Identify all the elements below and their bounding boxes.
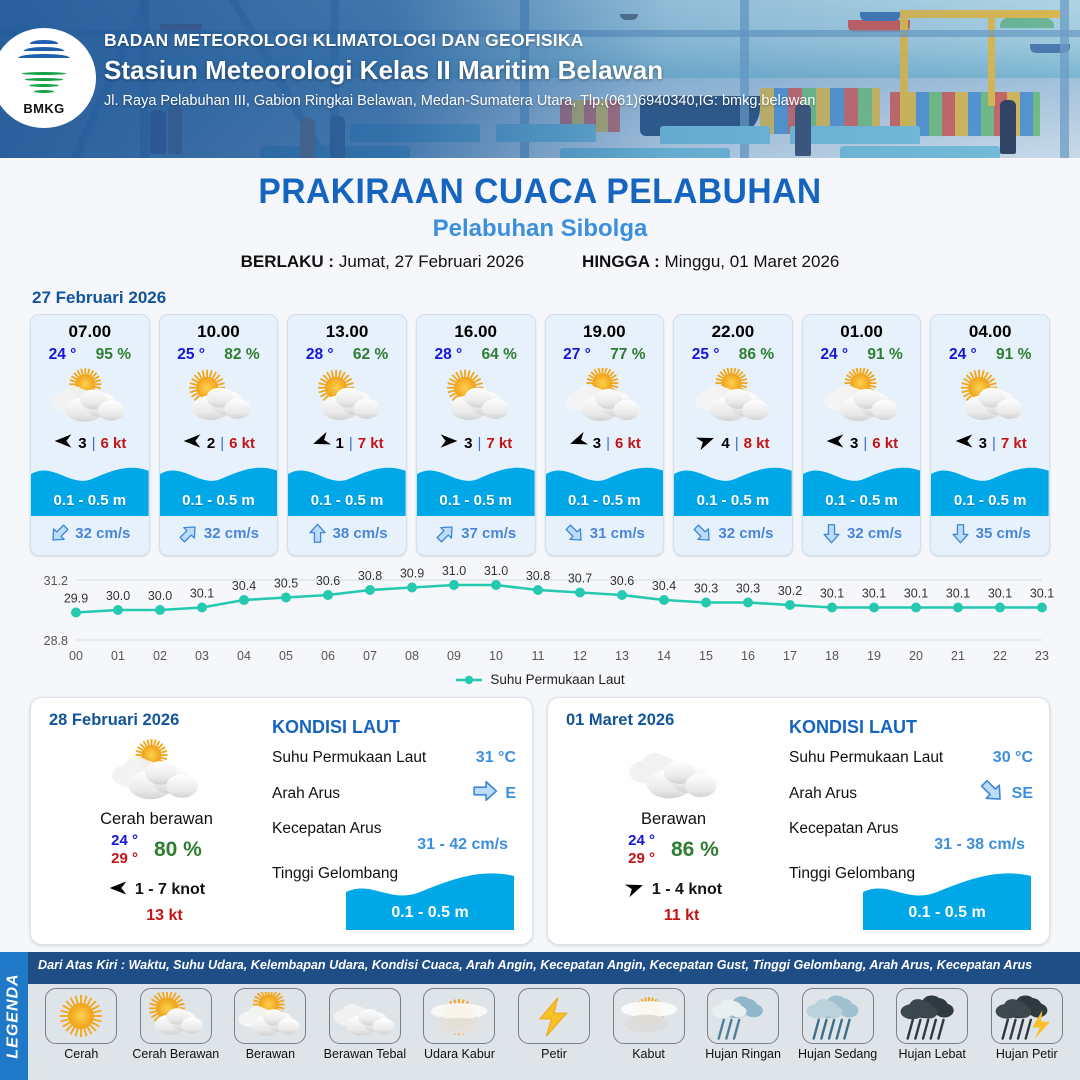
- current-direction-icon: [692, 523, 712, 543]
- sea-row-sst: Suhu Permukaan Laut 30 °C: [789, 749, 1033, 767]
- legend-sun-clouds-icon: [234, 988, 306, 1044]
- svg-text:07: 07: [363, 649, 377, 663]
- current-direction-icon: [564, 523, 584, 543]
- panel-wave-graphic: 0.1 - 0.5 m: [346, 870, 514, 930]
- legend-item: Udara Kabur: [412, 988, 507, 1061]
- page-header: BMKG BADAN METEOROLOGI KLIMATOLOGI DAN G…: [0, 0, 1080, 158]
- panel-temp-max: 29 °: [111, 850, 138, 868]
- current-speed: 35 cm/s: [976, 525, 1031, 542]
- wind-scale: 2: [207, 435, 215, 452]
- legend-item-label: Cerah: [64, 1047, 98, 1061]
- header-text-block: BADAN METEOROLOGI KLIMATOLOGI DAN GEOFIS…: [104, 30, 815, 109]
- wave-height: 0.1 - 0.5 m: [546, 492, 664, 509]
- card-temperature: 24 °: [949, 346, 977, 364]
- wind-gust: 6 kt: [229, 435, 255, 452]
- svg-text:30.7: 30.7: [568, 572, 592, 586]
- agency-name: BADAN METEOROLOGI KLIMATOLOGI DAN GEOFIS…: [104, 30, 815, 51]
- valid-until-value: Minggu, 01 Maret 2026: [665, 252, 840, 271]
- card-wave: 0.1 - 0.5 m: [931, 458, 1049, 516]
- svg-text:13: 13: [615, 649, 629, 663]
- svg-text:11: 11: [532, 649, 545, 663]
- station-name: Stasiun Meteorologi Kelas II Maritim Bel…: [104, 55, 815, 86]
- legend-sun-cloud-icon: [140, 988, 212, 1044]
- current-direction-icon: [178, 523, 198, 543]
- forecast-card[interactable]: 10.00 25 ° 82 % 2 | 6 kt 0.1 - 0.5 m: [159, 314, 279, 556]
- current-speed: 32 cm/s: [718, 525, 773, 542]
- legend-section: LEGENDA Dari Atas Kiri : Waktu, Suhu Uda…: [0, 952, 1080, 1080]
- wind-gust: 7 kt: [1001, 435, 1027, 452]
- card-humidity: 64 %: [482, 346, 517, 364]
- svg-text:17: 17: [783, 649, 797, 663]
- card-current: 32 cm/s: [803, 516, 921, 550]
- card-time: 01.00: [803, 315, 921, 342]
- svg-text:19: 19: [867, 649, 881, 663]
- panel-humidity: 80 %: [154, 838, 202, 862]
- legend-item: Kabut: [601, 988, 696, 1061]
- station-address: Jl. Raya Pelabuhan III, Gabion Ringkai B…: [104, 93, 815, 109]
- card-temp-humidity: 28 ° 62 %: [288, 342, 406, 364]
- panel-temp-range: 24 ° 29 °: [111, 832, 138, 869]
- svg-text:30.4: 30.4: [232, 579, 256, 593]
- current-direction-icon: [435, 523, 455, 543]
- card-time: 07.00: [31, 315, 149, 342]
- card-wind: 3 | 6 kt: [803, 428, 921, 458]
- wave-height: 0.1 - 0.5 m: [803, 492, 921, 509]
- card-humidity: 82 %: [224, 346, 259, 364]
- card-current: 35 cm/s: [931, 516, 1049, 550]
- legend-tab-label: LEGENDA: [5, 973, 23, 1058]
- wind-scale: 1: [336, 435, 344, 452]
- card-humidity: 91 %: [996, 346, 1031, 364]
- card-time: 13.00: [288, 315, 406, 342]
- svg-text:30.0: 30.0: [106, 589, 130, 603]
- svg-text:30.1: 30.1: [904, 587, 928, 601]
- legend-fog-icon: [613, 988, 685, 1044]
- sea-row-label: Suhu Permukaan Laut: [272, 749, 476, 767]
- card-weather-icon: [417, 366, 535, 428]
- panel-wind-range: 1 - 7 knot: [135, 881, 205, 899]
- panel-weather-icon: [49, 734, 264, 806]
- panel-temp-min: 24 °: [628, 832, 655, 850]
- svg-text:15: 15: [699, 649, 713, 663]
- card-humidity: 77 %: [610, 346, 645, 364]
- wind-direction-icon: [954, 431, 974, 455]
- current-speed: 32 cm/s: [847, 525, 902, 542]
- card-humidity: 95 %: [96, 346, 131, 364]
- card-temp-humidity: 25 ° 82 %: [160, 342, 278, 364]
- current-direction-icon: [49, 523, 69, 543]
- svg-text:30.8: 30.8: [358, 569, 382, 583]
- card-temperature: 28 °: [306, 346, 334, 364]
- wind-scale: 3: [464, 435, 472, 452]
- logo-arcs-icon: [18, 40, 70, 70]
- svg-text:16: 16: [741, 649, 755, 663]
- svg-text:30.6: 30.6: [316, 574, 340, 588]
- wind-gust: 7 kt: [358, 435, 384, 452]
- forecast-card[interactable]: 19.00 27 ° 77 % 3 | 6 kt 0.1 - 0.5 m: [545, 314, 665, 556]
- svg-text:30.2: 30.2: [778, 584, 802, 598]
- wind-gust: 7 kt: [486, 435, 512, 452]
- card-temp-humidity: 25 ° 86 %: [674, 342, 792, 364]
- legend-item-label: Petir: [541, 1047, 567, 1061]
- card-time: 10.00: [160, 315, 278, 342]
- card-wind: 3 | 6 kt: [546, 428, 664, 458]
- card-temp-humidity: 24 ° 95 %: [31, 342, 149, 364]
- wave-height: 0.1 - 0.5 m: [160, 492, 278, 509]
- wind-direction-icon: [53, 431, 73, 455]
- card-temp-humidity: 28 ° 64 %: [417, 342, 535, 364]
- panel-weather-icon: [566, 734, 781, 806]
- svg-text:03: 03: [195, 649, 209, 663]
- panel-date: 28 Februari 2026: [49, 711, 264, 730]
- wind-scale: 3: [593, 435, 601, 452]
- sea-conditions-title: KONDISI LAUT: [789, 717, 1033, 738]
- svg-text:21: 21: [951, 649, 965, 663]
- svg-text:12: 12: [573, 649, 587, 663]
- legend-item: Hujan Sedang: [790, 988, 885, 1061]
- panel-wave-height: 0.1 - 0.5 m: [346, 904, 514, 922]
- card-humidity: 86 %: [739, 346, 774, 364]
- chart-legend-label: Suhu Permukaan Laut: [490, 672, 624, 687]
- card-humidity: 62 %: [353, 346, 388, 364]
- legend-item-label: Berawan: [246, 1047, 295, 1061]
- panel-temp-min: 24 °: [111, 832, 138, 850]
- panel-gust: 11 kt: [566, 907, 781, 925]
- card-temperature: 25 °: [177, 346, 205, 364]
- legend-item-label: Berawan Tebal: [324, 1047, 406, 1061]
- sea-row-label: Suhu Permukaan Laut: [789, 749, 993, 767]
- wind-direction-icon: [311, 431, 331, 455]
- wave-height: 0.1 - 0.5 m: [31, 492, 149, 509]
- daily-summary-row: 28 Februari 2026 Cerah berawan 24 ° 29 °…: [0, 687, 1080, 945]
- wind-direction-icon: [696, 431, 716, 455]
- wave-height: 0.1 - 0.5 m: [417, 492, 535, 509]
- card-wind: 3 | 6 kt: [31, 428, 149, 458]
- valid-from-label: BERLAKU :: [241, 252, 335, 271]
- daily-summary-panel[interactable]: 01 Maret 2026 Berawan 24 ° 29 ° 86 %: [547, 697, 1050, 945]
- panel-wind-range: 1 - 4 knot: [652, 881, 722, 899]
- svg-text:06: 06: [321, 649, 335, 663]
- svg-text:30.8: 30.8: [526, 569, 550, 583]
- card-time: 22.00: [674, 315, 792, 342]
- legend-item: Cerah Berawan: [129, 988, 224, 1061]
- logo-waves-icon: [18, 72, 70, 98]
- sea-conditions-title: KONDISI LAUT: [272, 717, 516, 738]
- legend-sun-icon: [45, 988, 117, 1044]
- card-temperature: 24 °: [49, 346, 77, 364]
- svg-text:04: 04: [237, 649, 251, 663]
- wind-direction-icon: [182, 431, 202, 455]
- card-time: 16.00: [417, 315, 535, 342]
- wind-separator: |: [863, 435, 867, 452]
- card-time: 19.00: [546, 315, 664, 342]
- panel-humidity: 86 %: [671, 838, 719, 862]
- panel-temp-range: 24 ° 29 °: [628, 832, 655, 869]
- current-direction-label: E: [505, 785, 516, 803]
- wave-height: 0.1 - 0.5 m: [931, 492, 1049, 509]
- card-wind: 1 | 7 kt: [288, 428, 406, 458]
- card-current: 37 cm/s: [417, 516, 535, 550]
- wave-height: 0.1 - 0.5 m: [674, 492, 792, 509]
- legend-item-label: Hujan Petir: [996, 1047, 1058, 1061]
- wind-separator: |: [477, 435, 481, 452]
- wind-scale: 3: [78, 435, 86, 452]
- legend-item-label: Kabut: [632, 1047, 665, 1061]
- svg-text:30.0: 30.0: [148, 589, 172, 603]
- card-wave: 0.1 - 0.5 m: [31, 458, 149, 516]
- legend-tab: LEGENDA: [0, 952, 28, 1080]
- svg-text:31.2: 31.2: [44, 574, 68, 588]
- port-name: Pelabuhan Sibolga: [0, 215, 1080, 243]
- legend-item-label: Hujan Ringan: [705, 1047, 781, 1061]
- legend-item: Cerah: [34, 988, 129, 1061]
- panel-date: 01 Maret 2026: [566, 711, 781, 730]
- legend-item: Hujan Ringan: [696, 988, 791, 1061]
- legend-item-label: Hujan Lebat: [898, 1047, 965, 1061]
- card-humidity: 91 %: [867, 346, 902, 364]
- panel-left: 01 Maret 2026 Berawan 24 ° 29 ° 86 %: [566, 711, 781, 934]
- legend-clouds-icon: [329, 988, 401, 1044]
- wave-height: 0.1 - 0.5 m: [288, 492, 406, 509]
- card-weather-icon: [160, 366, 278, 428]
- title-section: PRAKIRAAN CUACA PELABUHAN Pelabuhan Sibo…: [0, 172, 1080, 272]
- card-weather-icon: [288, 366, 406, 428]
- panel-wave-graphic: 0.1 - 0.5 m: [863, 870, 1031, 930]
- legend-item: Berawan: [223, 988, 318, 1061]
- svg-text:29.9: 29.9: [64, 592, 88, 606]
- sea-row-label: Arah Arus: [272, 785, 472, 803]
- card-wind: 3 | 7 kt: [931, 428, 1049, 458]
- sst-chart: 31.228.829.90030.00130.00230.10330.40430…: [24, 566, 1056, 670]
- forecast-card[interactable]: 16.00 28 ° 64 % 3 | 7 kt 0.1 - 0.5 m: [416, 314, 536, 556]
- panel-wind: 1 - 4 knot: [566, 878, 781, 903]
- wind-separator: |: [735, 435, 739, 452]
- forecast-card[interactable]: 04.00 24 ° 91 % 3 | 7 kt 0.1 - 0.5 m: [930, 314, 1050, 556]
- card-wave: 0.1 - 0.5 m: [417, 458, 535, 516]
- current-direction-label: SE: [1012, 785, 1033, 803]
- svg-text:01: 01: [111, 649, 125, 663]
- legend-light-rain-icon: [707, 988, 779, 1044]
- wind-direction-icon: [439, 431, 459, 455]
- valid-from: BERLAKU : Jumat, 27 Februari 2026: [241, 252, 524, 272]
- sea-row-value: 30 °C: [993, 749, 1033, 767]
- card-temp-humidity: 24 ° 91 %: [803, 342, 921, 364]
- forecast-card[interactable]: 13.00 28 ° 62 % 1 | 7 kt 0.1 - 0.5 m: [287, 314, 407, 556]
- panel-wind: 1 - 7 knot: [49, 878, 264, 903]
- svg-text:30.1: 30.1: [862, 587, 886, 601]
- current-direction-icon: [472, 778, 498, 809]
- forecast-card[interactable]: 22.00 25 ° 86 % 4 | 8 kt 0.1 - 0.5 m: [673, 314, 793, 556]
- sea-row-value: 31 °C: [476, 749, 516, 767]
- svg-text:23: 23: [1035, 649, 1049, 663]
- svg-text:05: 05: [279, 649, 293, 663]
- chart-legend: Suhu Permukaan Laut: [0, 672, 1080, 687]
- svg-text:08: 08: [405, 649, 419, 663]
- legend-icon-strip: Cerah Cerah Berawan Berawan: [28, 984, 1080, 1080]
- wind-gust: 8 kt: [744, 435, 770, 452]
- wind-scale: 3: [979, 435, 987, 452]
- legend-note: Dari Atas Kiri : Waktu, Suhu Udara, Kele…: [38, 958, 1074, 972]
- legend-item-label: Cerah Berawan: [132, 1047, 219, 1061]
- sea-row-current-direction: Arah Arus E: [272, 778, 516, 809]
- legend-item: Berawan Tebal: [318, 988, 413, 1061]
- sea-row-value: E: [472, 778, 516, 809]
- svg-text:30.1: 30.1: [988, 587, 1012, 601]
- svg-text:30.1: 30.1: [190, 587, 214, 601]
- current-direction-icon: [979, 778, 1005, 809]
- wind-scale: 3: [850, 435, 858, 452]
- svg-text:30.9: 30.9: [400, 567, 424, 581]
- card-current: 32 cm/s: [31, 516, 149, 550]
- current-direction-icon: [950, 523, 970, 543]
- legend-item: Hujan Lebat: [885, 988, 980, 1061]
- current-speed: 32 cm/s: [75, 525, 130, 542]
- svg-text:30.5: 30.5: [274, 577, 298, 591]
- svg-text:30.1: 30.1: [1030, 587, 1054, 601]
- card-temperature: 27 °: [563, 346, 591, 364]
- panel-wave-height: 0.1 - 0.5 m: [863, 904, 1031, 922]
- legend-moderate-rain-icon: [802, 988, 874, 1044]
- card-current: 31 cm/s: [546, 516, 664, 550]
- valid-until-label: HINGGA :: [582, 252, 660, 271]
- card-weather-icon: [674, 366, 792, 428]
- wind-separator: |: [349, 435, 353, 452]
- svg-text:14: 14: [657, 649, 671, 663]
- chart-legend-marker-icon: [455, 674, 483, 686]
- wind-separator: |: [606, 435, 610, 452]
- panel-right: KONDISI LAUT Suhu Permukaan Laut 30 °C A…: [781, 711, 1033, 934]
- wind-gust: 6 kt: [101, 435, 127, 452]
- svg-text:18: 18: [825, 649, 839, 663]
- svg-text:30.6: 30.6: [610, 574, 634, 588]
- panel-temps: 24 ° 29 ° 80 %: [49, 832, 264, 869]
- card-weather-icon: [546, 366, 664, 428]
- card-temp-humidity: 24 ° 91 %: [931, 342, 1049, 364]
- legend-item-label: Udara Kabur: [424, 1047, 495, 1061]
- card-current: 32 cm/s: [160, 516, 278, 550]
- svg-text:10: 10: [489, 649, 503, 663]
- card-time: 04.00: [931, 315, 1049, 342]
- svg-text:30.3: 30.3: [736, 582, 760, 596]
- current-speed: 32 cm/s: [204, 525, 259, 542]
- forecast-card[interactable]: 07.00 24 ° 95 % 3 | 6 kt 0.1 - 0.5 m: [30, 314, 150, 556]
- current-direction-icon: [307, 523, 327, 543]
- card-wave: 0.1 - 0.5 m: [674, 458, 792, 516]
- valid-from-value: Jumat, 27 Februari 2026: [339, 252, 524, 271]
- card-temperature: 25 °: [692, 346, 720, 364]
- valid-until: HINGGA : Minggu, 01 Maret 2026: [582, 252, 839, 272]
- card-wave: 0.1 - 0.5 m: [288, 458, 406, 516]
- daily-summary-panel[interactable]: 28 Februari 2026 Cerah berawan 24 ° 29 °…: [30, 697, 533, 945]
- svg-text:31.0: 31.0: [484, 566, 508, 578]
- panel-right: KONDISI LAUT Suhu Permukaan Laut 31 °C A…: [264, 711, 516, 934]
- card-wave: 0.1 - 0.5 m: [160, 458, 278, 516]
- legend-item-label: Hujan Sedang: [798, 1047, 877, 1061]
- card-temperature: 24 °: [820, 346, 848, 364]
- svg-text:31.0: 31.0: [442, 566, 466, 578]
- current-speed: 31 cm/s: [590, 525, 645, 542]
- svg-text:28.8: 28.8: [44, 634, 68, 648]
- panel-gust: 13 kt: [49, 907, 264, 925]
- svg-text:30.3: 30.3: [694, 582, 718, 596]
- legend-haze-sun-icon: [423, 988, 495, 1044]
- card-current: 32 cm/s: [674, 516, 792, 550]
- card-temperature: 28 °: [435, 346, 463, 364]
- svg-text:09: 09: [447, 649, 461, 663]
- sea-row-value: SE: [979, 778, 1033, 809]
- wind-scale: 4: [721, 435, 729, 452]
- card-wind: 4 | 8 kt: [674, 428, 792, 458]
- forecast-cards-row: 07.00 24 ° 95 % 3 | 6 kt 0.1 - 0.5 m: [0, 314, 1080, 556]
- wind-gust: 6 kt: [872, 435, 898, 452]
- current-speed: 38 cm/s: [333, 525, 388, 542]
- card-weather-icon: [931, 366, 1049, 428]
- wind-gust: 6 kt: [615, 435, 641, 452]
- panel-temps: 24 ° 29 ° 86 %: [566, 832, 781, 869]
- sst-chart-svg: 31.228.829.90030.00130.00230.10330.40430…: [24, 566, 1056, 670]
- wind-direction-icon: [568, 431, 588, 455]
- current-speed: 37 cm/s: [461, 525, 516, 542]
- validity-row: BERLAKU : Jumat, 27 Februari 2026 HINGGA…: [0, 252, 1080, 272]
- wind-direction-icon: [825, 431, 845, 455]
- panel-wind-direction-icon: [108, 878, 128, 903]
- sea-row-sst: Suhu Permukaan Laut 31 °C: [272, 749, 516, 767]
- card-wind: 2 | 6 kt: [160, 428, 278, 458]
- page-title: PRAKIRAAN CUACA PELABUHAN: [22, 172, 1059, 212]
- svg-text:02: 02: [153, 649, 167, 663]
- forecast-date-label: 27 Februari 2026: [32, 288, 1080, 308]
- wind-separator: |: [992, 435, 996, 452]
- panel-temp-max: 29 °: [628, 850, 655, 868]
- sea-row-current-direction: Arah Arus SE: [789, 778, 1033, 809]
- card-wind: 3 | 7 kt: [417, 428, 535, 458]
- legend-item: Petir: [507, 988, 602, 1061]
- panel-left: 28 Februari 2026 Cerah berawan 24 ° 29 °…: [49, 711, 264, 934]
- svg-text:30.1: 30.1: [820, 587, 844, 601]
- sea-row-label: Arah Arus: [789, 785, 979, 803]
- forecast-card[interactable]: 01.00 24 ° 91 % 3 | 6 kt 0.1 - 0.5 m: [802, 314, 922, 556]
- legend-item: Hujan Petir: [979, 988, 1074, 1061]
- wind-separator: |: [220, 435, 224, 452]
- card-weather-icon: [31, 366, 149, 428]
- current-speed-value: 31 - 42 cm/s: [272, 836, 516, 854]
- card-weather-icon: [803, 366, 921, 428]
- wind-separator: |: [92, 435, 96, 452]
- svg-text:30.4: 30.4: [652, 579, 676, 593]
- legend-bolt-icon: [518, 988, 590, 1044]
- legend-heavy-rain-icon: [896, 988, 968, 1044]
- panel-condition: Berawan: [566, 810, 781, 829]
- card-wave: 0.1 - 0.5 m: [546, 458, 664, 516]
- card-wave: 0.1 - 0.5 m: [803, 458, 921, 516]
- svg-text:00: 00: [69, 649, 83, 663]
- current-speed-value: 31 - 38 cm/s: [789, 836, 1033, 854]
- card-current: 38 cm/s: [288, 516, 406, 550]
- panel-condition: Cerah berawan: [49, 810, 264, 829]
- card-temp-humidity: 27 ° 77 %: [546, 342, 664, 364]
- current-direction-icon: [821, 523, 841, 543]
- svg-text:22: 22: [993, 649, 1007, 663]
- panel-wind-direction-icon: [625, 878, 645, 903]
- svg-text:30.1: 30.1: [946, 587, 970, 601]
- legend-thunderstorm-icon: [991, 988, 1063, 1044]
- logo-text: BMKG: [23, 101, 64, 116]
- svg-text:20: 20: [909, 649, 923, 663]
